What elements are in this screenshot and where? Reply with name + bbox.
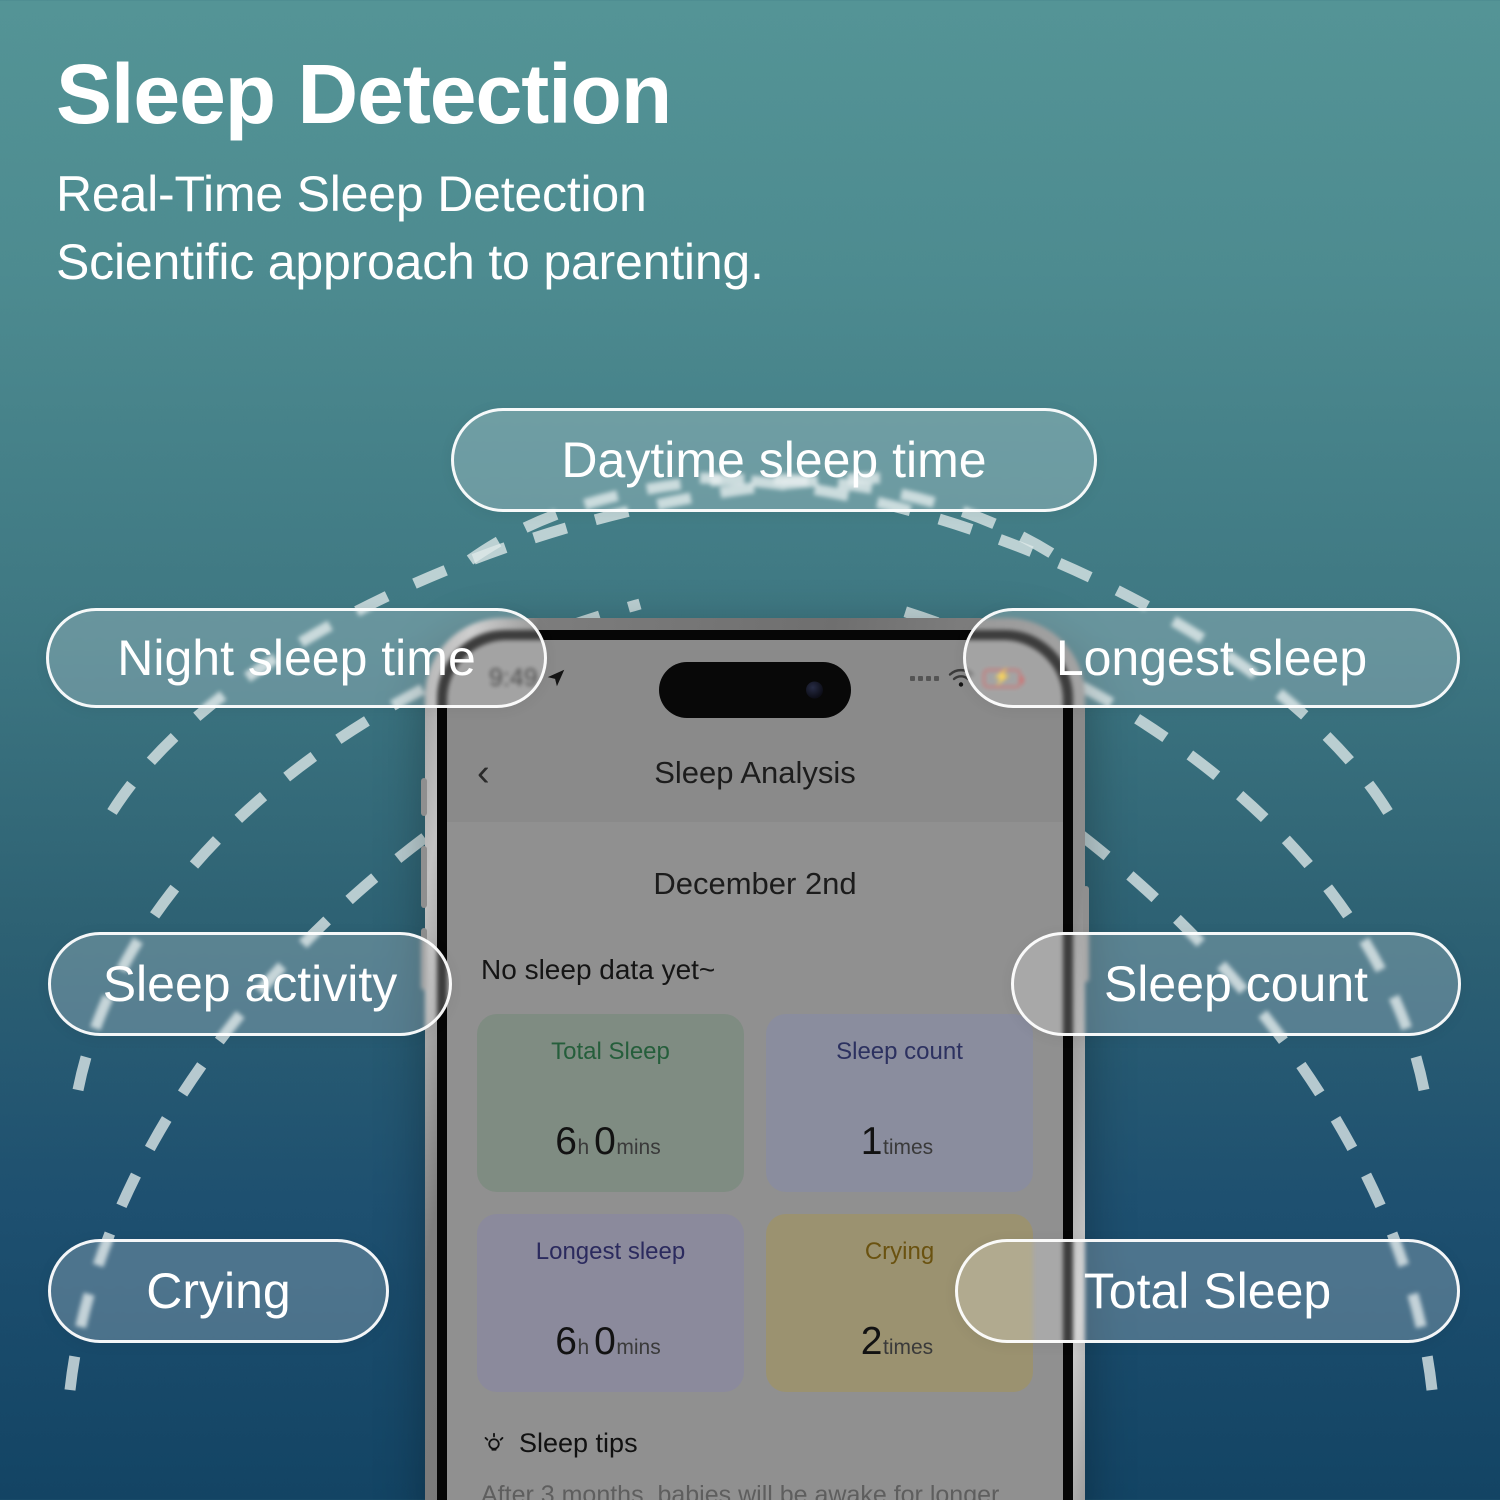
- content-sheet: December 2nd No sleep data yet~ Total Sl…: [447, 822, 1063, 1500]
- callout-sleep-count[interactable]: Sleep count: [1011, 932, 1461, 1036]
- callout-label: Total Sleep: [1084, 1262, 1331, 1320]
- nav-bar: ‹ Sleep Analysis: [447, 736, 1063, 810]
- mute-switch[interactable]: [421, 778, 427, 816]
- date-header[interactable]: December 2nd: [447, 822, 1063, 902]
- page-subtitle: Real-Time Sleep Detection Scientific app…: [56, 160, 1106, 296]
- sleep-tips-body: After 3 months, babies will be awake for…: [481, 1479, 1029, 1500]
- sleep-tips-title: Sleep tips: [519, 1428, 638, 1459]
- stat-value-major: 6: [555, 1320, 576, 1363]
- stat-value-major: 2: [861, 1320, 882, 1363]
- callout-daytime-sleep-time[interactable]: Daytime sleep time: [451, 408, 1097, 512]
- callout-label: Sleep activity: [103, 955, 398, 1013]
- stat-label: Longest sleep: [477, 1238, 744, 1266]
- stat-value-minor: 0: [594, 1320, 615, 1363]
- stat-value: 6h0mins: [477, 1320, 744, 1364]
- stat-unit-minor: times: [883, 1136, 933, 1159]
- front-camera-icon: [806, 682, 823, 699]
- signal-dots-icon: [910, 676, 939, 681]
- stat-unit-minor: times: [883, 1336, 933, 1359]
- stat-value-minor: 0: [594, 1120, 615, 1163]
- sleep-tips-header: Sleep tips: [481, 1428, 1063, 1459]
- callout-label: Night sleep time: [117, 629, 476, 687]
- phone-mockup: 9:49 ⚡ ‹ Sleep An: [425, 618, 1085, 1500]
- callout-label: Sleep count: [1104, 955, 1368, 1013]
- callout-label: Longest sleep: [1056, 629, 1367, 687]
- page-title: Sleep Detection: [56, 52, 1106, 136]
- stat-unit-minor: mins: [616, 1136, 660, 1159]
- lightbulb-icon: [481, 1431, 507, 1457]
- callout-label: Daytime sleep time: [561, 431, 986, 489]
- callout-longest-sleep[interactable]: Longest sleep: [963, 608, 1460, 708]
- subtitle-line-2: Scientific approach to parenting.: [56, 228, 1106, 296]
- stat-value: 1times: [766, 1120, 1033, 1164]
- subtitle-line-1: Real-Time Sleep Detection: [56, 160, 1106, 228]
- callout-label: Crying: [146, 1262, 290, 1320]
- location-arrow-icon: [545, 667, 567, 689]
- phone-screen: 9:49 ⚡ ‹ Sleep An: [447, 640, 1063, 1500]
- stat-value-major: 1: [861, 1120, 882, 1163]
- dynamic-island: [659, 662, 851, 718]
- screen-title: Sleep Analysis: [654, 755, 856, 791]
- stat-value-major: 6: [555, 1120, 576, 1163]
- stat-card-sleep-count[interactable]: Sleep count 1times: [766, 1014, 1033, 1192]
- callout-night-sleep-time[interactable]: Night sleep time: [46, 608, 547, 708]
- callout-total-sleep[interactable]: Total Sleep: [955, 1239, 1460, 1343]
- stat-label: Sleep count: [766, 1038, 1033, 1066]
- stat-card-longest-sleep[interactable]: Longest sleep 6h0mins: [477, 1214, 744, 1392]
- stat-card-grid: Total Sleep 6h0mins Sleep count 1times L…: [477, 1014, 1033, 1392]
- empty-state-text: No sleep data yet~: [481, 954, 1063, 986]
- stat-unit-minor: mins: [616, 1336, 660, 1359]
- chevron-left-icon[interactable]: ‹: [477, 754, 490, 792]
- callout-crying[interactable]: Crying: [48, 1239, 389, 1343]
- header-block: Sleep Detection Real-Time Sleep Detectio…: [56, 52, 1106, 296]
- stat-card-total-sleep[interactable]: Total Sleep 6h0mins: [477, 1014, 744, 1192]
- stat-unit-major: h: [577, 1336, 589, 1359]
- stat-unit-major: h: [577, 1136, 589, 1159]
- callout-sleep-activity[interactable]: Sleep activity: [48, 932, 452, 1036]
- volume-up-button[interactable]: [421, 846, 427, 908]
- stat-value: 6h0mins: [477, 1120, 744, 1164]
- stat-label: Total Sleep: [477, 1038, 744, 1066]
